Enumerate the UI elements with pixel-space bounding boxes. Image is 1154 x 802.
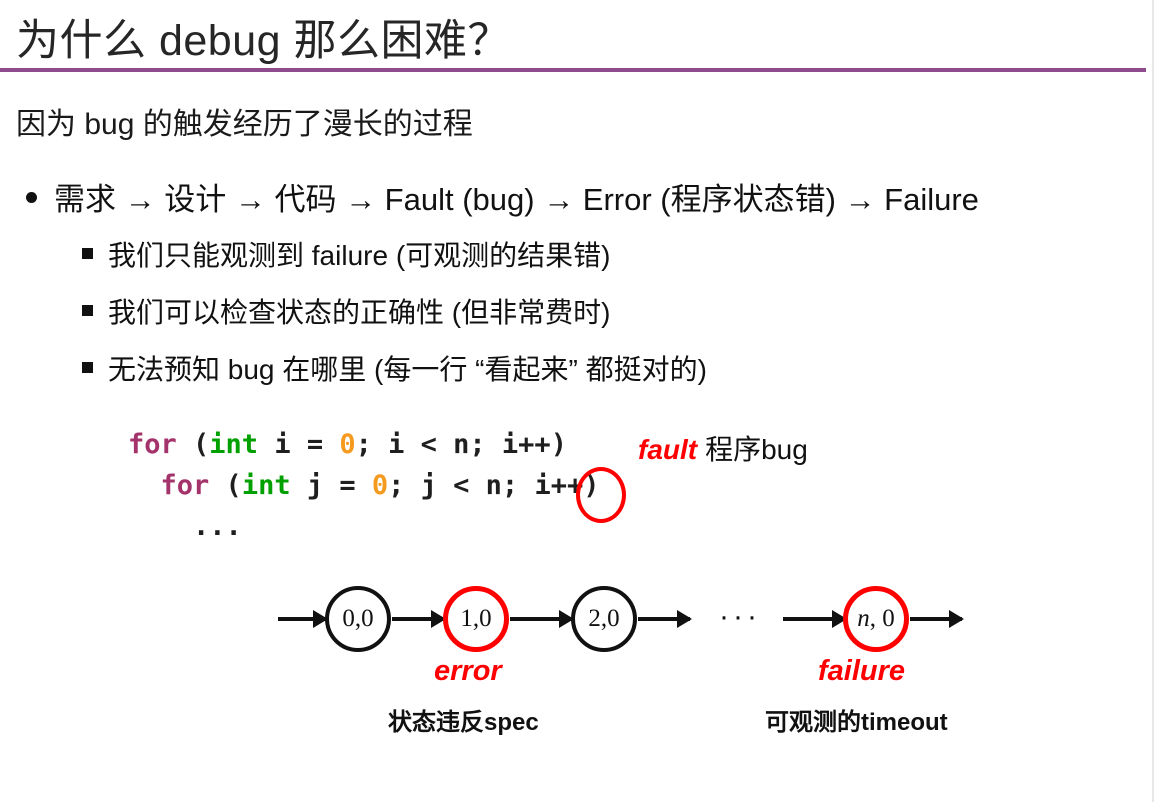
code-loop-rest: ; j < n; i++) xyxy=(388,470,599,501)
state-node-label: n, 0 xyxy=(857,605,895,633)
arrow-0-to-1 xyxy=(392,617,444,621)
arrow-1-to-2 xyxy=(510,617,572,621)
fault-label-cn: 程序bug xyxy=(705,434,808,465)
bullet-dot-icon xyxy=(26,192,37,203)
failure-annotation: failure xyxy=(818,655,905,688)
state-node-0: 0,0 xyxy=(325,586,391,652)
bullet-square-icon xyxy=(82,248,93,259)
code-indent xyxy=(128,470,161,501)
code-punct: ( xyxy=(177,429,210,460)
state-node-n-failure: n, 0 xyxy=(843,586,909,652)
code-number-zero: 0 xyxy=(372,470,388,501)
error-annotation: error xyxy=(434,655,502,688)
caption-observable-timeout: 可观测的timeout xyxy=(765,702,948,737)
page-title: 为什么 debug 那么困难？ xyxy=(16,6,511,68)
slide-canvas: 为什么 debug 那么困难？ 因为 bug 的触发经历了漫长的过程 需求 → … xyxy=(0,0,1154,802)
state-node-label: 1,0 xyxy=(460,605,491,633)
state-node-2: 2,0 xyxy=(571,586,637,652)
bullet-level2-check-state: 我们可以检查状态的正确性 (但非常费时) xyxy=(82,291,610,331)
state-node-1-error: 1,0 xyxy=(443,586,509,652)
bullet-square-icon xyxy=(82,362,93,373)
lead-sentence: 因为 bug 的触发经历了漫长的过程 xyxy=(16,99,473,143)
arrow-entry xyxy=(278,617,326,621)
bullet-level1: 需求 → 设计 → 代码 → Fault (bug) → Error (程序状态… xyxy=(26,174,979,219)
bullet-level2-label: 我们只能观测到 failure (可观测的结果错) xyxy=(108,234,610,274)
arrow-into-n xyxy=(783,617,845,621)
code-var: j = xyxy=(291,470,372,501)
code-loop-rest: ; i < n; i++) xyxy=(356,429,567,460)
state-node-label: 0,0 xyxy=(342,605,373,633)
bullet-level2-observe-failure: 我们只能观测到 failure (可观测的结果错) xyxy=(82,234,610,274)
code-number-zero: 0 xyxy=(339,429,355,460)
state-node-label-italic: n xyxy=(857,605,870,632)
bullet-square-icon xyxy=(82,305,93,316)
code-punct: ( xyxy=(209,470,242,501)
code-var: i = xyxy=(258,429,339,460)
fault-label: fault xyxy=(638,434,697,465)
bug-highlight-ellipse xyxy=(576,467,626,523)
bullet-level2-label: 无法预知 bug 在哪里 (每一行 “看起来” 都挺对的) xyxy=(108,348,707,388)
code-ellipsis: ... xyxy=(128,511,242,542)
caption-state-violates-spec: 状态违反spec xyxy=(388,702,539,737)
code-sample: for (int i = 0; i < n; i++) for (int j =… xyxy=(128,424,599,547)
state-diagram: 0,0 1,0 2,0 ··· n, 0 xyxy=(0,570,1154,690)
arrow-exit xyxy=(910,617,962,621)
diagram-ellipsis: ··· xyxy=(719,600,761,634)
code-type-int: int xyxy=(242,470,291,501)
code-keyword-for: for xyxy=(128,429,177,460)
bullet-level2-label: 我们可以检查状态的正确性 (但非常费时) xyxy=(108,291,610,331)
title-divider xyxy=(0,68,1146,72)
arrow-2-onward xyxy=(638,617,690,621)
code-type-int: int xyxy=(209,429,258,460)
fault-annotation: fault程序bug xyxy=(638,428,808,468)
bullet-level1-label: 需求 → 设计 → 代码 → Fault (bug) → Error (程序状态… xyxy=(54,174,979,219)
state-node-label: 2,0 xyxy=(588,605,619,633)
code-keyword-for: for xyxy=(161,470,210,501)
bullet-level2-unknown-bug: 无法预知 bug 在哪里 (每一行 “看起来” 都挺对的) xyxy=(82,348,707,388)
state-node-label-rest: , 0 xyxy=(870,605,895,632)
